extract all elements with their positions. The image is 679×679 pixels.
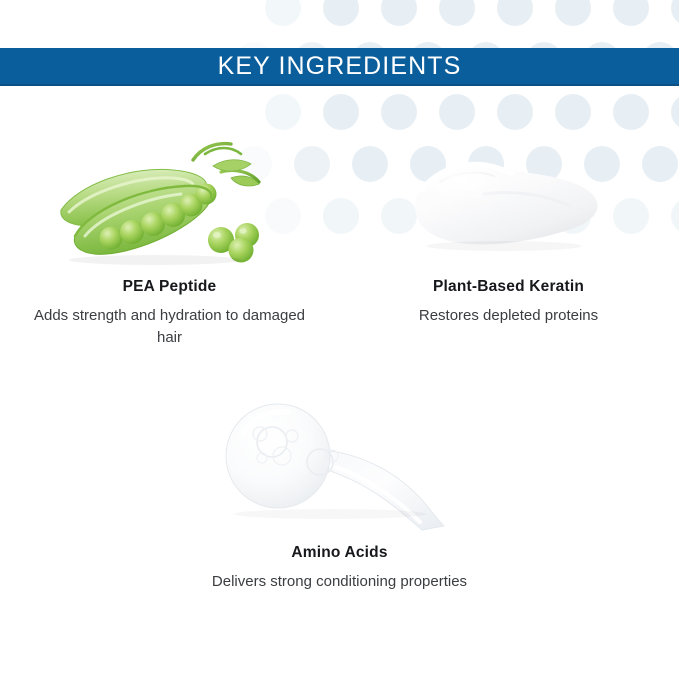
ingredient-card-amino-acids: Amino Acids Delivers strong conditioning… bbox=[120, 390, 560, 593]
ingredient-description: Delivers strong conditioning properties bbox=[212, 571, 467, 593]
background-dot bbox=[265, 94, 301, 130]
page-title: KEY INGREDIENTS bbox=[218, 54, 462, 79]
background-dot bbox=[265, 0, 301, 26]
background-dot bbox=[381, 94, 417, 130]
background-dot bbox=[555, 94, 591, 130]
ingredient-card-plant-based-keratin: Plant-Based Keratin Restores depleted pr… bbox=[339, 132, 678, 349]
ingredient-name: PEA Peptide bbox=[123, 278, 217, 296]
clear-gel-drop-image bbox=[190, 390, 490, 538]
ingredient-card-pea-peptide: PEA Peptide Adds strength and hydration … bbox=[0, 132, 339, 349]
ingredient-row-bottom: Amino Acids Delivers strong conditioning… bbox=[0, 390, 679, 593]
background-dot bbox=[555, 0, 591, 26]
background-dot bbox=[323, 94, 359, 130]
background-dot bbox=[497, 0, 533, 26]
ingredient-row-top: PEA Peptide Adds strength and hydration … bbox=[0, 132, 679, 349]
background-dot bbox=[497, 94, 533, 130]
background-dot bbox=[613, 0, 649, 26]
pea-pods-icon bbox=[45, 132, 295, 272]
clear-gel-drop-icon bbox=[200, 390, 480, 540]
background-dot bbox=[439, 0, 475, 26]
background-dot bbox=[613, 94, 649, 130]
ingredient-description: Adds strength and hydration to damaged h… bbox=[20, 305, 320, 349]
pea-pods-image bbox=[35, 132, 305, 272]
ingredient-name: Amino Acids bbox=[291, 544, 387, 562]
background-dot bbox=[671, 94, 679, 130]
key-ingredients-infographic: KEY INGREDIENTS bbox=[0, 0, 679, 679]
background-dot bbox=[381, 0, 417, 26]
section-banner: KEY INGREDIENTS bbox=[0, 48, 679, 86]
cream-swatch-icon bbox=[394, 132, 624, 272]
background-dot bbox=[439, 94, 475, 130]
ingredient-name: Plant-Based Keratin bbox=[433, 278, 584, 296]
background-dot bbox=[323, 0, 359, 26]
background-dot bbox=[671, 0, 679, 26]
ingredient-description: Restores depleted proteins bbox=[419, 305, 598, 327]
cream-swatch-image bbox=[374, 132, 644, 272]
